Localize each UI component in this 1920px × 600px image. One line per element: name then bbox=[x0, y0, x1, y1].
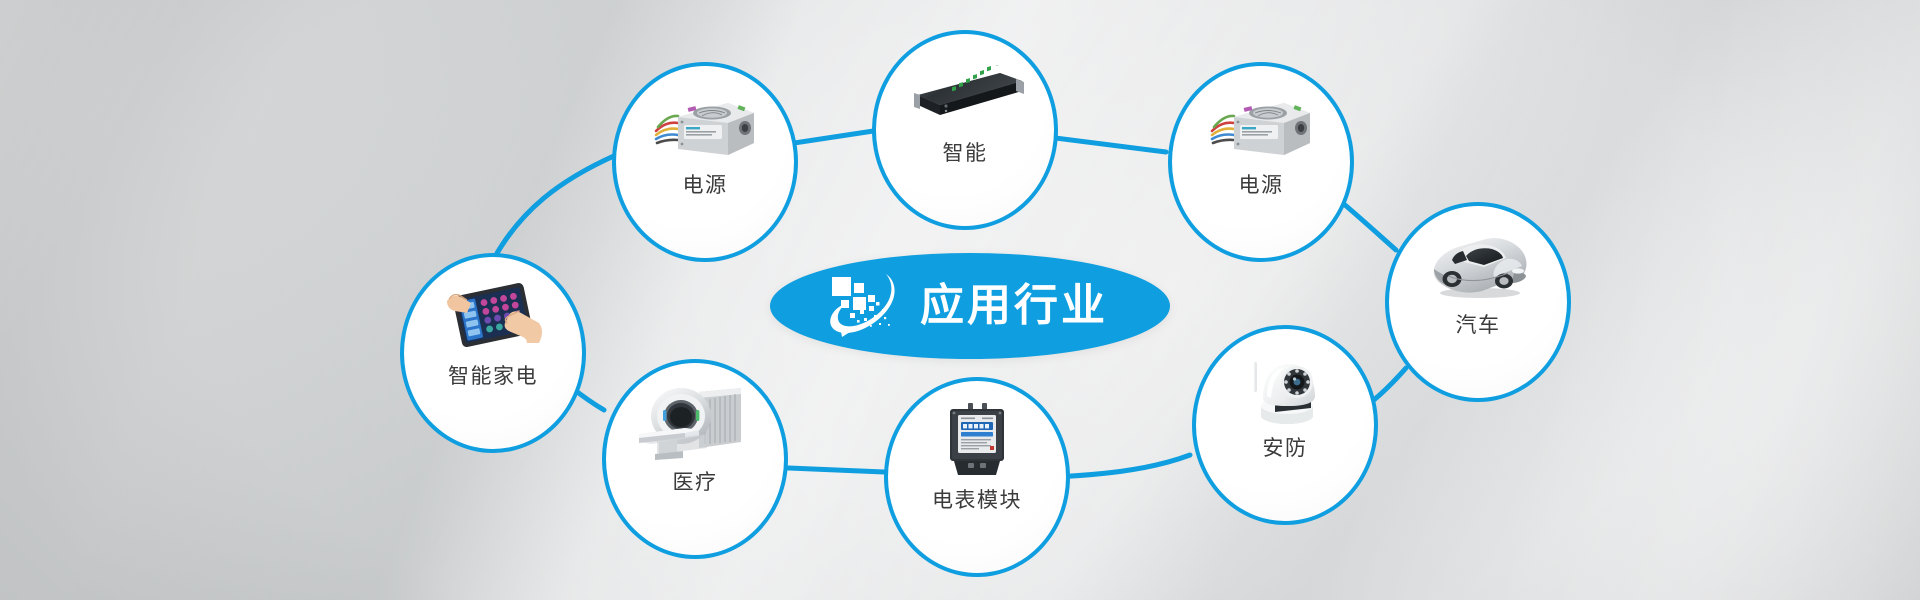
node-power-left[interactable]: 电源 bbox=[612, 62, 798, 262]
node-label: 医疗 bbox=[673, 472, 718, 493]
node-medical[interactable]: 医疗 bbox=[602, 359, 788, 559]
node-power-right[interactable]: 电源 bbox=[1168, 62, 1354, 262]
edge-smarthome-power bbox=[492, 155, 616, 262]
application-industries-infographic: 智能家电 bbox=[0, 0, 1920, 600]
node-label: 安防 bbox=[1263, 438, 1308, 459]
node-label: 智能 bbox=[943, 143, 988, 164]
node-label: 汽车 bbox=[1456, 315, 1501, 336]
center-badge[interactable]: 应用行业 bbox=[770, 253, 1170, 359]
node-smart-home[interactable]: 智能家电 bbox=[400, 253, 586, 453]
node-label: 电源 bbox=[683, 175, 728, 196]
node-label: 智能家电 bbox=[448, 366, 538, 387]
orbit-pixel-swoosh-icon bbox=[826, 271, 904, 341]
node-label: 电源 bbox=[1239, 175, 1284, 196]
node-security[interactable]: 安防 bbox=[1192, 325, 1378, 525]
center-badge-label: 应用行业 bbox=[920, 284, 1108, 328]
node-meter-module[interactable]: 电表模块 bbox=[884, 377, 1070, 577]
node-label: 电表模块 bbox=[932, 490, 1022, 511]
node-automotive[interactable]: 汽车 bbox=[1385, 202, 1571, 402]
node-intelligent[interactable]: 智能 bbox=[872, 30, 1058, 230]
